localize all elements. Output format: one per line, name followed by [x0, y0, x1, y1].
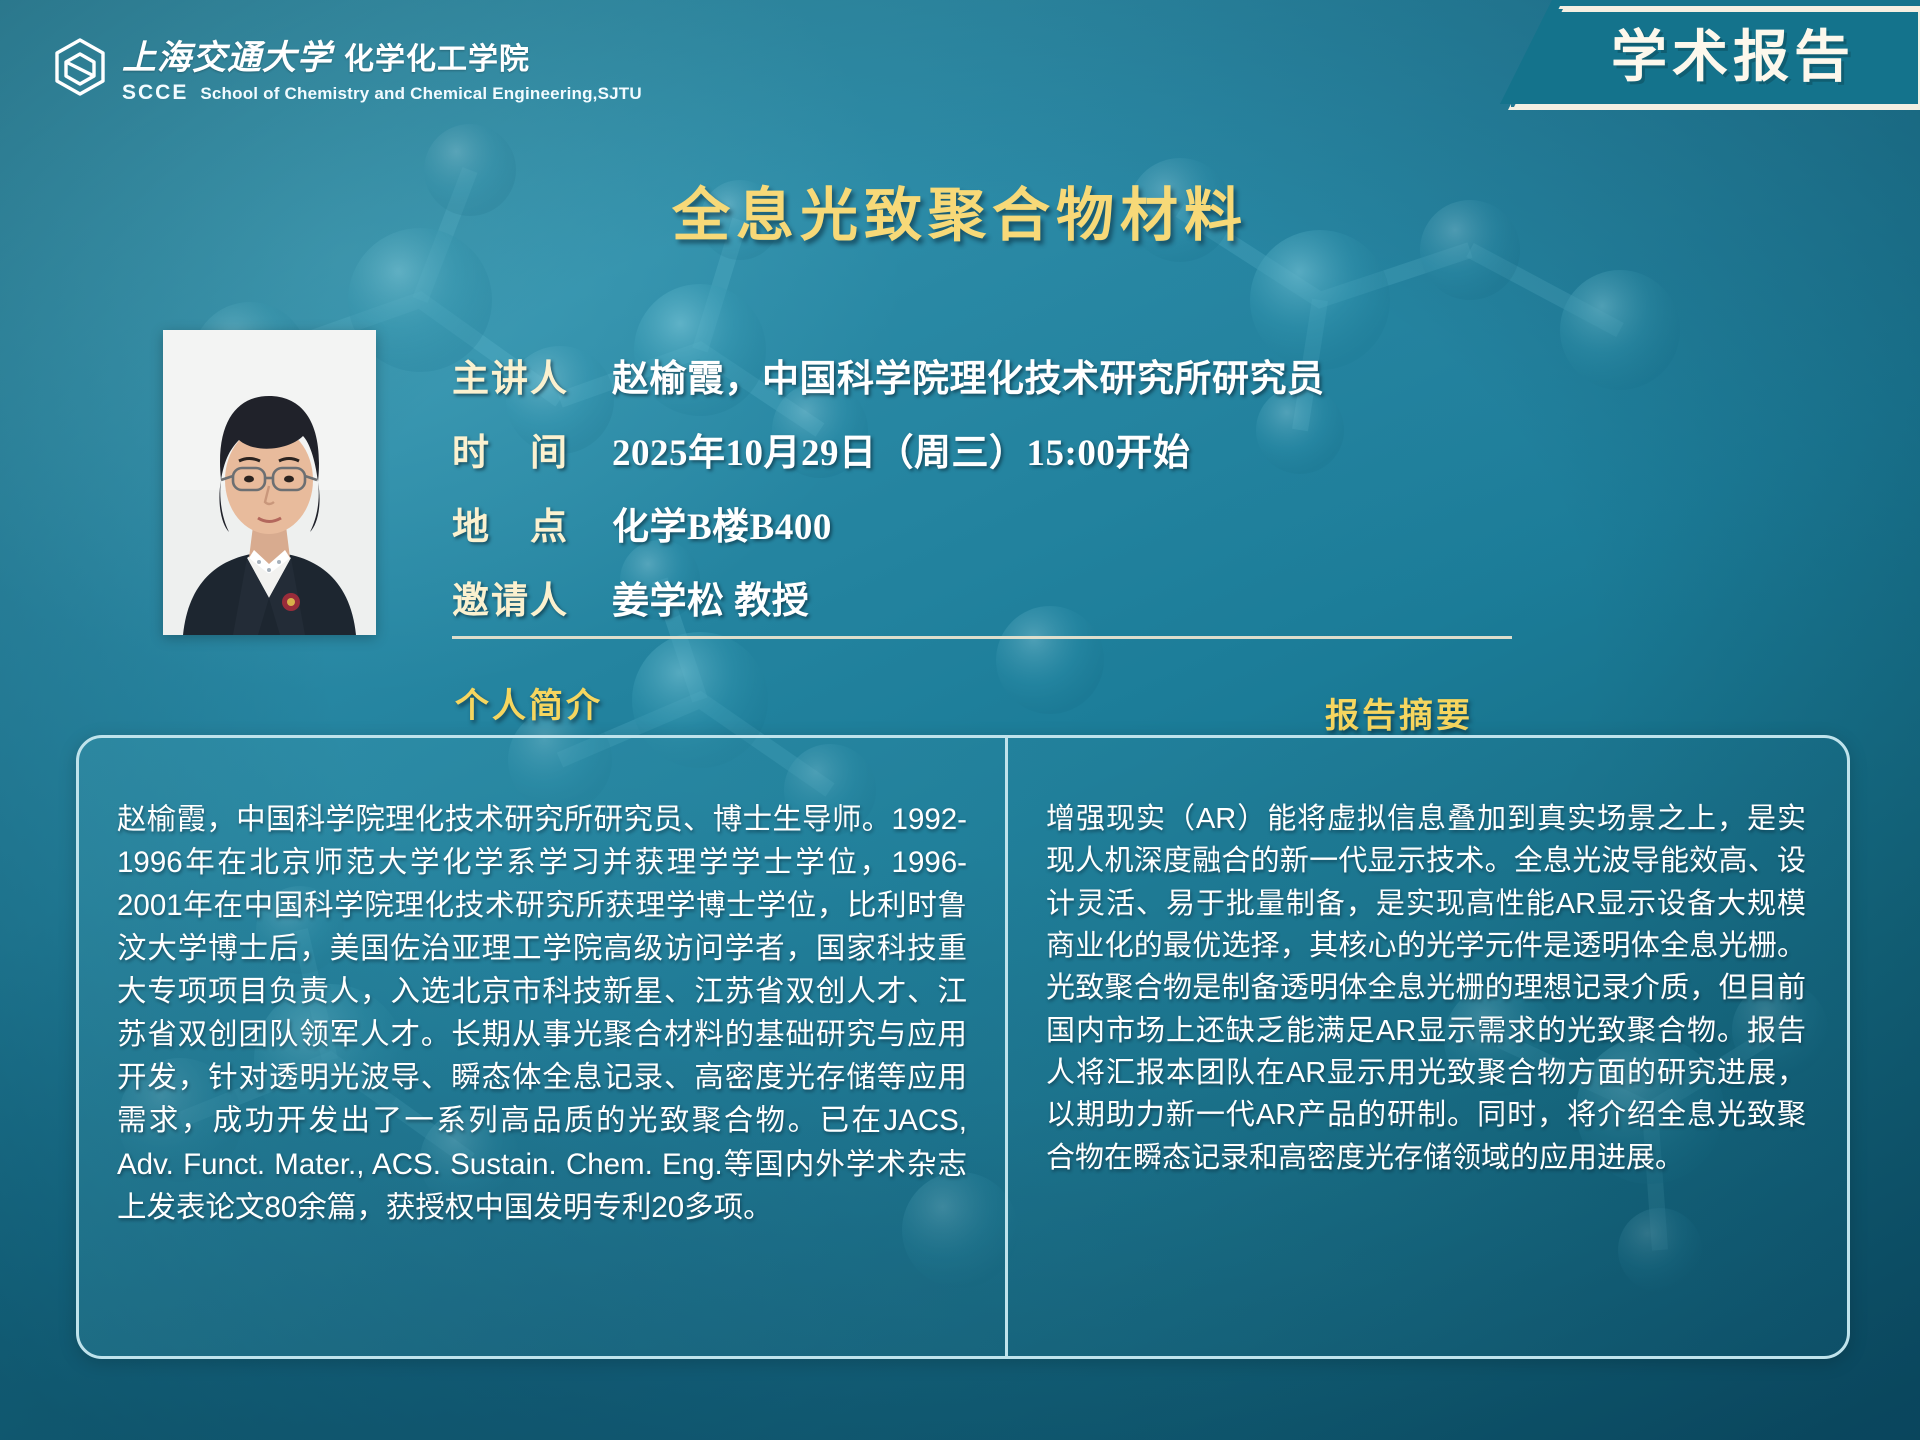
info-label-speaker: 主讲人	[452, 348, 612, 402]
info-value-inviter: 姜学松 教授	[612, 570, 809, 624]
logo-institution-cn: 上海交通大学	[122, 30, 332, 79]
bio-section-heading: 个人简介	[455, 678, 603, 727]
info-value-location: 化学B楼B400	[612, 496, 832, 550]
logo-english-row: SCCE School of Chemistry and Chemical En…	[122, 81, 642, 105]
info-label-inviter: 邀请人	[452, 570, 612, 624]
page-title: 全息光致聚合物材料	[0, 168, 1920, 252]
info-row-time: 时 间 2025年10月29日（周三）15:00开始	[452, 422, 1512, 476]
info-row-speaker: 主讲人 赵榆霞，中国科学院理化技术研究所研究员	[452, 348, 1512, 402]
academic-report-ribbon: 学术报告	[1500, 0, 1920, 104]
info-label-time: 时 间	[452, 422, 612, 476]
logo-chinese-row: 上海交通大学 化学化工学院	[122, 30, 642, 79]
bio-panel: 赵榆霞，中国科学院理化技术研究所研究员、博士生导师。1992-1996年在北京师…	[79, 738, 1005, 1356]
info-row-location: 地 点 化学B楼B400	[452, 496, 1512, 550]
logo-text-block: 上海交通大学 化学化工学院 SCCE School of Chemistry a…	[122, 30, 642, 105]
abstract-section-heading: 报告摘要	[1325, 688, 1473, 737]
info-divider	[452, 636, 1512, 639]
speaker-portrait	[163, 330, 376, 635]
info-row-inviter: 邀请人 姜学松 教授	[452, 570, 1512, 624]
sjtu-scce-logo: 上海交通大学 化学化工学院 SCCE School of Chemistry a…	[52, 30, 642, 105]
info-value-speaker: 赵榆霞，中国科学院理化技术研究所研究员	[612, 348, 1325, 402]
abstract-text: 增强现实（AR）能将虚拟信息叠加到真实场景之上，是实现人机深度融合的新一代显示技…	[1046, 798, 1806, 1179]
logo-school-cn: 化学化工学院	[344, 34, 530, 78]
info-label-location: 地 点	[452, 496, 612, 550]
abstract-panel: 增强现实（AR）能将虚拟信息叠加到真实场景之上，是实现人机深度融合的新一代显示技…	[1005, 738, 1844, 1356]
info-value-time: 2025年10月29日（周三）15:00开始	[612, 422, 1190, 476]
hexagon-scce-logo-icon	[52, 37, 108, 99]
ribbon-label: 学术报告	[1500, 0, 1920, 104]
bio-text: 赵榆霞，中国科学院理化技术研究所研究员、博士生导师。1992-1996年在北京师…	[117, 798, 967, 1229]
logo-abbrev: SCCE	[122, 81, 188, 105]
event-info-block: 主讲人 赵榆霞，中国科学院理化技术研究所研究员 时 间 2025年10月29日（…	[452, 348, 1512, 644]
logo-school-en: School of Chemistry and Chemical Enginee…	[200, 84, 642, 104]
content-panels: 赵榆霞，中国科学院理化技术研究所研究员、博士生导师。1992-1996年在北京师…	[76, 735, 1850, 1359]
seminar-poster: 上海交通大学 化学化工学院 SCCE School of Chemistry a…	[0, 0, 1920, 1440]
